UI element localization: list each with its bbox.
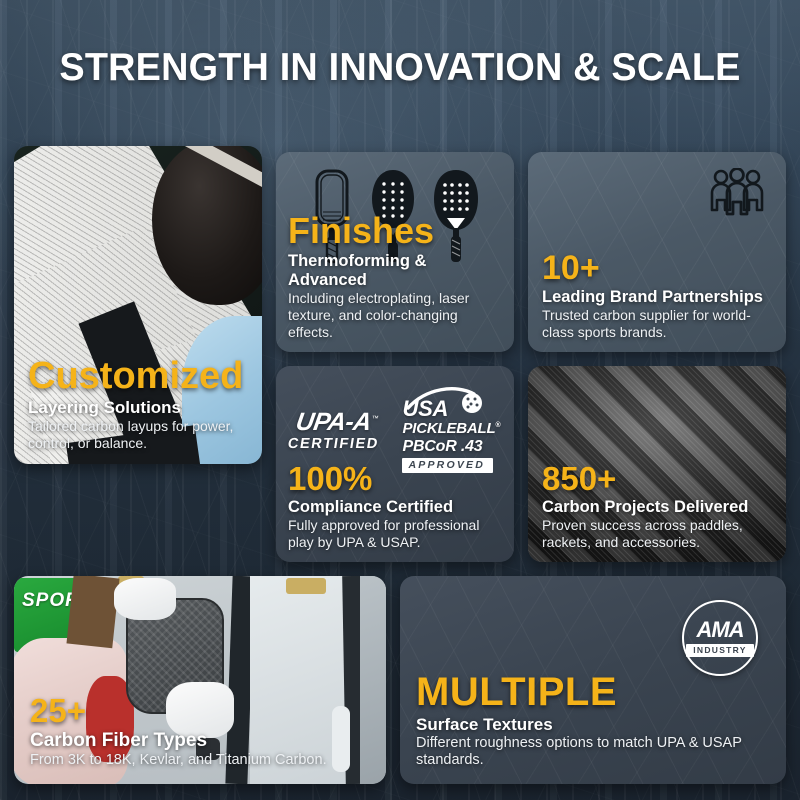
- stat-value: MULTIPLE: [416, 672, 772, 712]
- card-grid: Customized Layering Solutions Tailored c…: [0, 0, 800, 800]
- card-partners[interactable]: 10+ Leading Brand Partnerships Trusted c…: [528, 152, 786, 352]
- registered-symbol: ®: [495, 422, 500, 429]
- stat-headline: Thermoforming & Advanced: [288, 252, 506, 290]
- card-partners-text: 10+ Leading Brand Partnerships Trusted c…: [542, 251, 776, 341]
- stat-body: Tailored carbon layups for power, contro…: [28, 418, 250, 452]
- usap-line2: PICKLEBALL: [402, 420, 495, 437]
- usa-pickleball-approved-badge: USA PICKLEBALL® PBCoR .43 APPROVED: [402, 388, 500, 473]
- infographic-poster: STRENGTH IN INNOVATION & SCALE Customize…: [0, 0, 800, 800]
- card-fiber-text: 25+ Carbon Fiber Types From 3K to 18K, K…: [30, 694, 374, 770]
- stat-body: Fully approved for professional play by …: [288, 517, 506, 551]
- stat-body: Trusted carbon supplier for world-class …: [542, 307, 776, 341]
- stat-value: Finishes: [288, 213, 506, 249]
- stat-body: Proven success across paddles, rackets, …: [542, 517, 776, 551]
- stat-value: 25+: [30, 694, 374, 727]
- card-compliance-text: 100% Compliance Certified Fully approved…: [288, 462, 506, 551]
- card-finishes[interactable]: Finishes Thermoforming & Advanced Includ…: [276, 152, 514, 352]
- card-surface-textures[interactable]: AMA INDUSTRY MULTIPLE Surface Textures D…: [400, 576, 786, 784]
- upa-mark: UPA-A: [294, 408, 373, 436]
- card-textures-text: MULTIPLE Surface Textures Different roug…: [416, 672, 772, 770]
- stat-value: 100%: [288, 462, 506, 495]
- ama-logo-sub: INDUSTRY: [686, 644, 754, 657]
- card-customized[interactable]: Customized Layering Solutions Tailored c…: [14, 146, 262, 464]
- upa-a-certified-badge: UPA-A™ CERTIFIED: [286, 410, 384, 452]
- card-compliance[interactable]: UPA-A™ CERTIFIED USA: [276, 366, 514, 562]
- stat-headline: Carbon Projects Delivered: [542, 498, 776, 517]
- card-finishes-text: Finishes Thermoforming & Advanced Includ…: [288, 213, 506, 341]
- stat-body: Including electroplating, laser texture,…: [288, 290, 506, 341]
- card-projects-text: 850+ Carbon Projects Delivered Proven su…: [542, 462, 776, 551]
- stat-headline: Carbon Fiber Types: [30, 730, 374, 752]
- upa-sub: CERTIFIED: [286, 437, 379, 452]
- stat-value: 850+: [542, 462, 776, 495]
- stat-body: Different roughness options to match UPA…: [416, 735, 772, 770]
- stat-headline: Surface Textures: [416, 715, 772, 735]
- pickleball-swoosh-icon: [406, 386, 484, 416]
- card-projects[interactable]: 850+ Carbon Projects Delivered Proven su…: [528, 366, 786, 562]
- ama-logo-name: AMA: [696, 619, 743, 641]
- usap-line3: PBCoR .43: [402, 439, 500, 455]
- stat-headline: Layering Solutions: [28, 398, 250, 418]
- stat-value: 10+: [542, 251, 776, 285]
- stat-headline: Leading Brand Partnerships: [542, 288, 776, 307]
- card-fiber-types[interactable]: SPOR 25+ Carbon Fiber Types From 3K to 1…: [14, 576, 386, 784]
- ama-industry-logo: AMA INDUSTRY: [682, 600, 758, 676]
- stat-value: Customized: [28, 357, 250, 395]
- stat-body: From 3K to 18K, Kevlar, and Titanium Car…: [30, 752, 374, 770]
- card-customized-text: Customized Layering Solutions Tailored c…: [28, 357, 250, 452]
- stat-headline: Compliance Certified: [288, 498, 506, 517]
- group-of-people-icon: [708, 168, 766, 223]
- trademark-symbol: ™: [370, 415, 378, 422]
